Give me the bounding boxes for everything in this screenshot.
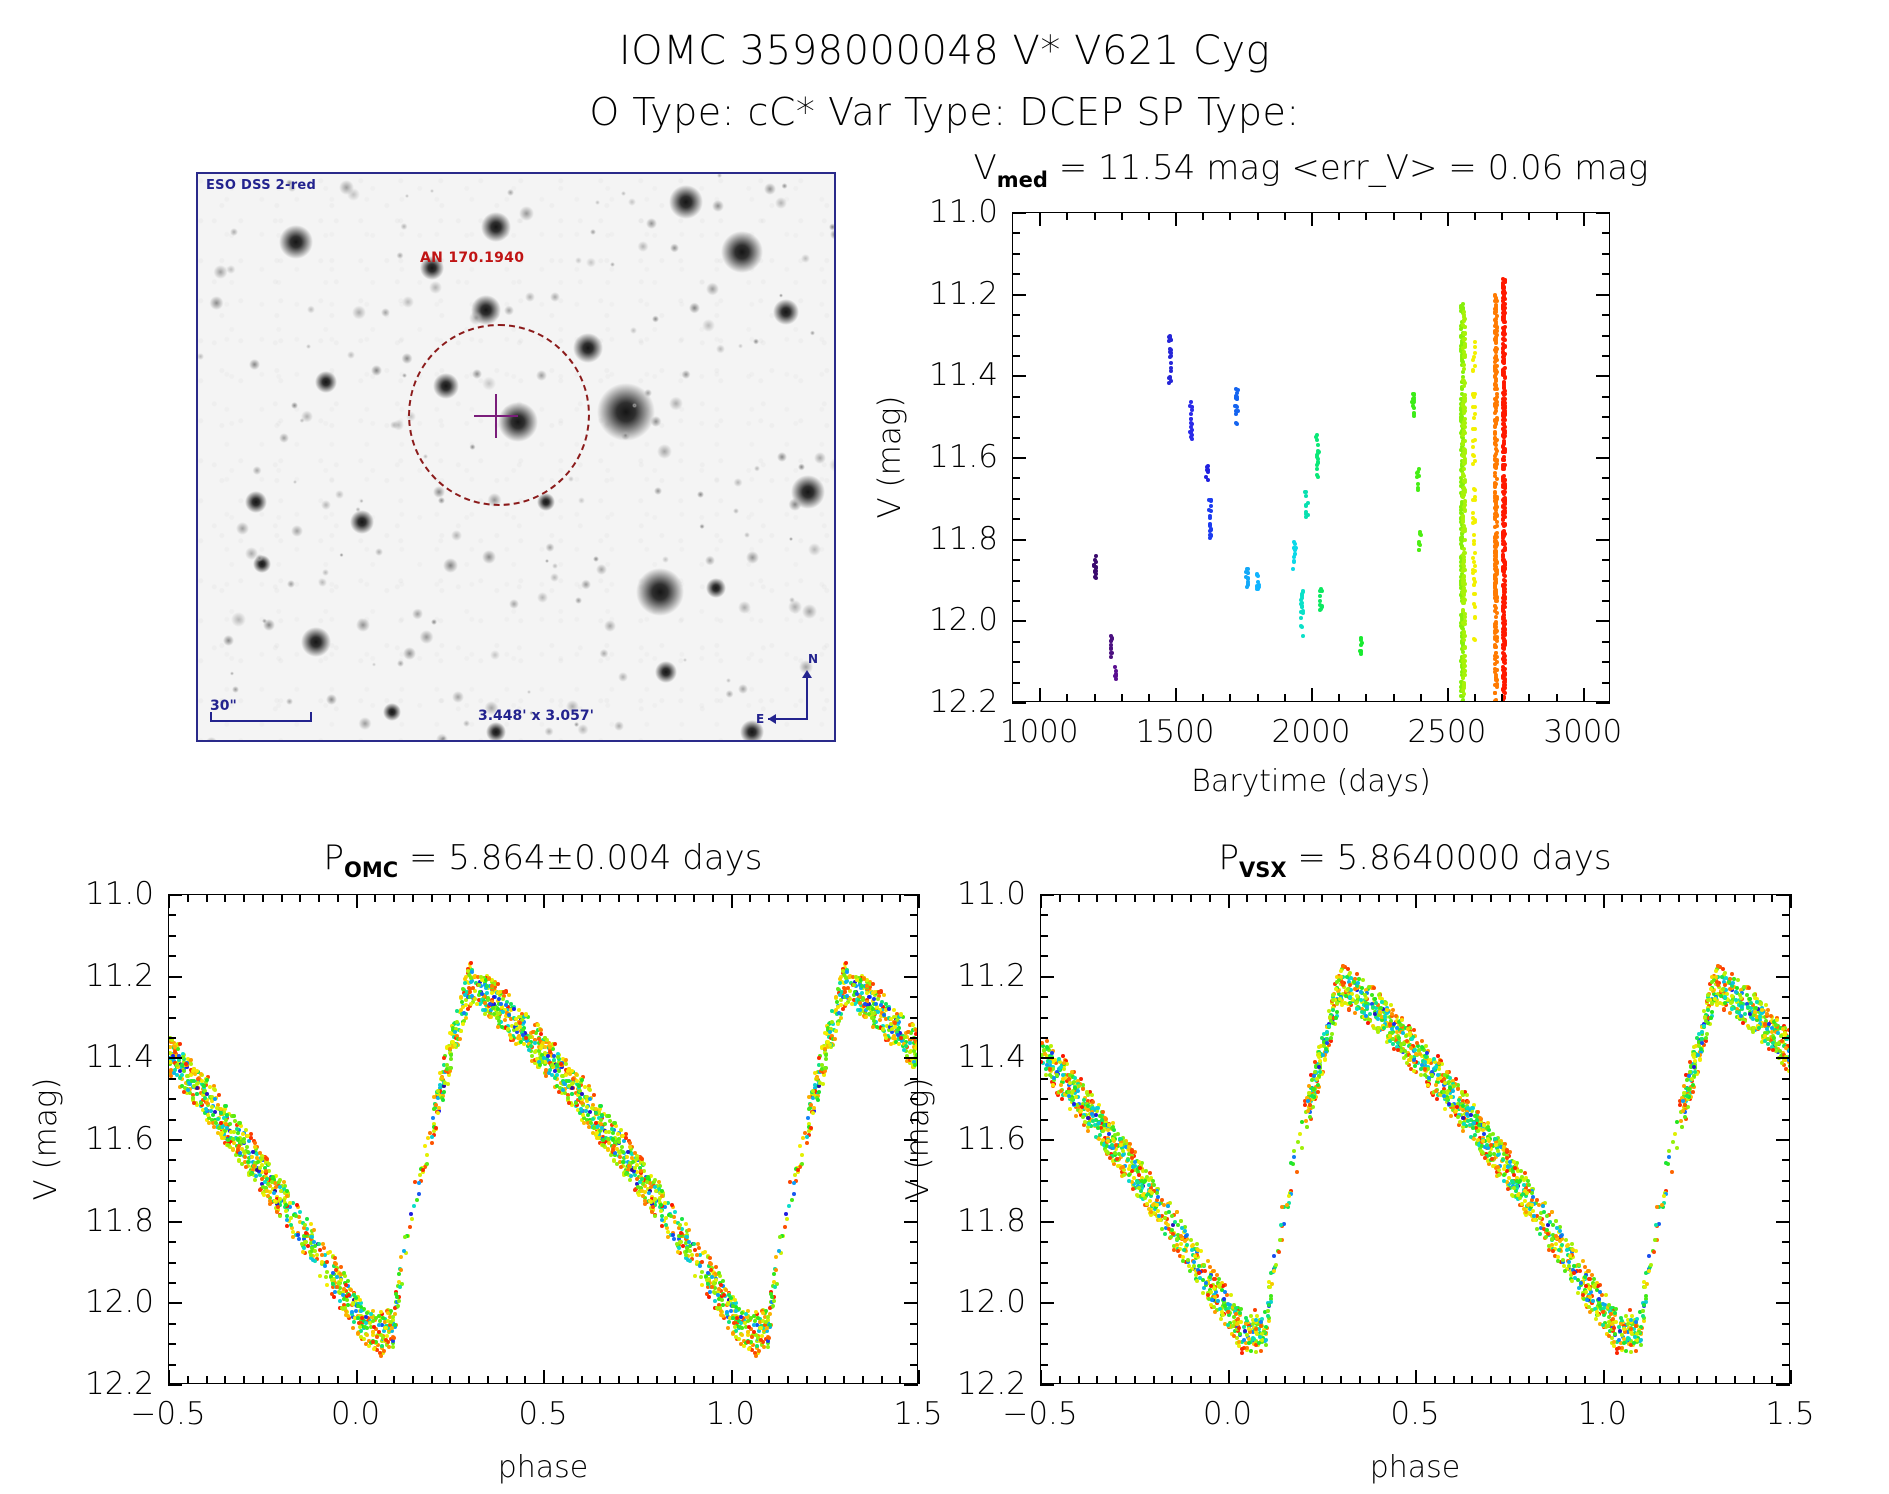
data-point <box>1463 589 1467 593</box>
axis-minor-tick <box>299 894 301 902</box>
data-point <box>805 1141 809 1145</box>
data-point <box>217 1093 221 1097</box>
axis-minor-tick <box>1602 253 1610 255</box>
data-point <box>325 1260 329 1264</box>
y-tick-label: 11.4 <box>85 1039 154 1075</box>
data-point <box>1315 438 1319 442</box>
data-point <box>1502 338 1506 342</box>
axis-tick <box>1012 375 1026 377</box>
data-point <box>399 1255 403 1259</box>
x-tick-label: 1000 <box>1000 714 1079 750</box>
data-point <box>1303 490 1307 494</box>
data-point <box>345 1298 349 1302</box>
data-point <box>264 1156 268 1160</box>
data-point <box>586 1113 590 1117</box>
data-point <box>864 1015 868 1019</box>
axis-minor-tick <box>524 1376 526 1384</box>
data-point <box>564 1062 568 1066</box>
data-point <box>524 1013 528 1017</box>
axis-minor-tick <box>1012 253 1020 255</box>
data-point <box>1462 638 1466 642</box>
axis-minor-tick <box>1420 212 1422 220</box>
axis-tick <box>356 1370 358 1384</box>
data-point <box>904 1044 908 1048</box>
data-point <box>1315 467 1319 471</box>
data-point <box>324 1275 328 1279</box>
axis-minor-tick <box>168 955 176 957</box>
data-point <box>546 1054 550 1058</box>
data-point <box>908 1050 912 1054</box>
axis-minor-tick <box>656 894 658 902</box>
data-point <box>757 1349 761 1353</box>
data-point <box>301 1250 305 1254</box>
axis-minor-tick <box>412 894 414 902</box>
x-tick-label: 2000 <box>1272 714 1351 750</box>
axis-minor-tick <box>910 1241 918 1243</box>
data-point <box>882 1013 886 1017</box>
data-point <box>208 1085 212 1089</box>
data-point <box>399 1268 403 1272</box>
axis-minor-tick <box>168 1364 176 1366</box>
data-point <box>1495 358 1499 362</box>
axis-minor-tick <box>506 894 508 902</box>
p-vsx-value-text: = 5.8640000 days <box>1287 838 1612 878</box>
axis-tick <box>1447 688 1449 702</box>
data-point <box>298 1210 302 1214</box>
axis-minor-tick <box>1257 694 1259 702</box>
data-point <box>417 1181 421 1185</box>
data-point <box>1594 1317 1598 1321</box>
data-point <box>712 1290 716 1294</box>
data-point <box>461 1022 465 1026</box>
axis-tick <box>1596 457 1610 459</box>
axis-minor-tick <box>1012 518 1020 520</box>
data-point <box>1473 615 1477 619</box>
data-point <box>365 1333 369 1337</box>
x-tick-label: 0.5 <box>518 1396 567 1432</box>
data-point <box>274 1185 278 1189</box>
data-point <box>496 991 500 995</box>
data-point <box>1494 308 1498 312</box>
data-point <box>762 1345 766 1349</box>
data-point <box>828 1043 832 1047</box>
data-point <box>798 1144 802 1148</box>
data-point <box>700 1270 704 1274</box>
data-point <box>1554 1242 1558 1246</box>
data-point <box>189 1058 193 1062</box>
data-point <box>228 1122 232 1126</box>
data-point <box>501 1010 505 1014</box>
axis-minor-tick <box>1121 212 1123 220</box>
axis-minor-tick <box>1602 498 1610 500</box>
axis-minor-tick <box>806 894 808 902</box>
data-point <box>1416 482 1420 486</box>
data-point <box>684 1253 688 1257</box>
axis-minor-tick <box>224 1376 226 1384</box>
data-point <box>538 1063 542 1067</box>
data-point <box>441 1098 445 1102</box>
data-point <box>241 1132 245 1136</box>
axis-minor-tick <box>1602 273 1610 275</box>
axis-minor-tick <box>168 1159 176 1161</box>
data-point <box>1471 462 1475 466</box>
data-point <box>338 1299 342 1303</box>
data-point <box>861 998 865 1002</box>
data-point <box>504 1003 508 1007</box>
data-point <box>1205 465 1209 469</box>
data-point <box>1502 613 1506 617</box>
axis-minor-tick <box>337 1376 339 1384</box>
y-tick-label: 11.0 <box>929 194 998 230</box>
axis-tick <box>168 976 182 978</box>
axis-minor-tick <box>824 1376 826 1384</box>
axis-minor-tick <box>749 1376 751 1384</box>
axis-tick <box>904 1384 918 1386</box>
data-point <box>321 1242 325 1246</box>
data-point <box>531 1030 535 1034</box>
axis-minor-tick <box>168 1241 176 1243</box>
data-point <box>1493 512 1497 516</box>
scalebar <box>210 712 312 722</box>
axis-minor-tick <box>393 894 395 902</box>
page-subtitle: O Type: cC* Var Type: DCEP SP Type: <box>0 90 1889 134</box>
data-point <box>485 984 489 988</box>
axis-minor-tick <box>1602 518 1610 520</box>
axis-minor-tick <box>881 1376 883 1384</box>
data-point <box>783 1225 787 1229</box>
data-point <box>1463 646 1467 650</box>
data-point <box>592 1126 596 1130</box>
axis-tick <box>1583 688 1585 702</box>
data-point <box>468 990 472 994</box>
data-point <box>1109 639 1113 643</box>
data-point <box>354 1309 358 1313</box>
data-point <box>792 1192 796 1196</box>
data-point <box>334 1262 338 1266</box>
data-point <box>285 1214 289 1218</box>
axis-minor-tick <box>337 894 339 902</box>
axis-tick <box>168 1221 182 1223</box>
data-point <box>430 1141 434 1145</box>
data-point <box>253 1178 257 1182</box>
data-point <box>1495 685 1499 689</box>
data-point <box>1494 447 1498 451</box>
data-point <box>459 1029 463 1033</box>
data-point <box>285 1189 289 1193</box>
data-point <box>349 1288 353 1292</box>
data-point <box>305 1217 309 1221</box>
axis-minor-tick <box>637 894 639 902</box>
data-point <box>659 1209 663 1213</box>
axis-tick <box>1039 212 1041 226</box>
axis-minor-tick <box>910 1282 918 1284</box>
data-point <box>836 1022 840 1026</box>
data-point <box>566 1096 570 1100</box>
data-point <box>690 1253 694 1257</box>
data-point <box>1501 558 1505 562</box>
data-point <box>470 970 474 974</box>
data-point <box>746 1330 750 1334</box>
data-point <box>587 1125 591 1129</box>
data-point <box>1501 531 1505 535</box>
data-point <box>664 1216 668 1220</box>
data-point <box>1493 430 1497 434</box>
data-point <box>1462 529 1466 533</box>
data-point <box>1291 567 1295 571</box>
data-point <box>309 1222 313 1226</box>
data-point <box>648 1199 652 1203</box>
p-vsx-symbol: P <box>1218 838 1239 878</box>
axis-minor-tick <box>262 894 264 902</box>
data-point <box>382 1349 386 1353</box>
data-point <box>325 1270 329 1274</box>
data-point <box>639 1156 643 1160</box>
data-point <box>838 981 842 985</box>
data-point <box>231 1137 235 1141</box>
axis-minor-tick <box>1420 694 1422 702</box>
data-point <box>666 1235 670 1239</box>
axis-tick <box>731 894 733 908</box>
data-point <box>1494 651 1498 655</box>
data-point <box>1501 296 1505 300</box>
data-point <box>341 1293 345 1297</box>
axis-tick <box>543 894 545 908</box>
data-point <box>1320 604 1324 608</box>
data-point <box>430 1135 434 1139</box>
data-point <box>871 1025 875 1029</box>
axis-minor-tick <box>506 1376 508 1384</box>
axis-tick <box>1583 212 1585 226</box>
data-point <box>398 1285 402 1289</box>
data-point <box>843 990 847 994</box>
data-point <box>568 1072 572 1076</box>
data-point <box>325 1283 329 1287</box>
data-point <box>335 1285 339 1289</box>
data-point <box>236 1131 240 1135</box>
axis-tick <box>1596 620 1610 622</box>
data-point <box>310 1235 314 1239</box>
vmed-subscript: med <box>997 168 1048 192</box>
data-point <box>1502 359 1506 363</box>
data-point <box>710 1285 714 1289</box>
data-point <box>384 1326 388 1330</box>
data-point <box>1190 428 1194 432</box>
axis-minor-tick <box>693 894 695 902</box>
data-point <box>1473 580 1477 584</box>
data-point <box>1495 387 1499 391</box>
axis-minor-tick <box>910 1037 918 1039</box>
p-omc-subscript: OMC <box>344 858 398 882</box>
data-point <box>1169 361 1173 365</box>
y-tick-label: 11.6 <box>85 1121 154 1157</box>
data-point <box>618 1155 622 1159</box>
data-point <box>811 1111 815 1115</box>
phase-vsx-title: PVSX = 5.8640000 days <box>1218 838 1611 882</box>
axis-minor-tick <box>1202 212 1204 220</box>
axis-tick <box>1447 212 1449 226</box>
data-point <box>231 1148 235 1152</box>
axis-minor-tick <box>168 914 176 916</box>
data-point <box>1501 643 1505 647</box>
data-point <box>1234 387 1238 391</box>
data-point <box>685 1246 689 1250</box>
axis-minor-tick <box>1094 694 1096 702</box>
data-point <box>1246 571 1250 575</box>
data-point <box>213 1097 217 1101</box>
axis-minor-tick <box>910 1017 918 1019</box>
data-point <box>811 1089 815 1093</box>
data-point <box>836 1005 840 1009</box>
data-point <box>1167 339 1171 343</box>
data-point <box>1360 641 1364 645</box>
axis-minor-tick <box>806 1376 808 1384</box>
data-point <box>323 1264 327 1268</box>
data-point <box>834 1029 838 1033</box>
data-point <box>438 1083 442 1087</box>
data-point <box>291 1230 295 1234</box>
data-point <box>1501 490 1505 494</box>
data-point <box>653 1214 657 1218</box>
compass-north-arrow-icon <box>802 670 812 678</box>
data-point <box>497 997 501 1001</box>
data-point <box>916 1041 918 1045</box>
data-point <box>624 1136 628 1140</box>
data-point <box>1462 622 1466 626</box>
data-point <box>1208 514 1212 518</box>
axis-minor-tick <box>1528 694 1530 702</box>
data-point <box>1189 412 1193 416</box>
axis-minor-tick <box>1602 355 1610 357</box>
data-point <box>1094 554 1098 558</box>
data-point <box>708 1256 712 1260</box>
data-point <box>249 1172 253 1176</box>
data-point <box>642 1162 646 1166</box>
data-point <box>352 1320 356 1324</box>
data-point <box>1472 539 1476 543</box>
axis-minor-tick <box>1365 694 1367 702</box>
data-point <box>318 1274 322 1278</box>
axis-minor-tick <box>1121 694 1123 702</box>
data-point <box>552 1058 556 1062</box>
data-point <box>1502 652 1506 656</box>
data-point <box>489 1015 493 1019</box>
data-point <box>224 1104 228 1108</box>
axis-minor-tick <box>449 894 451 902</box>
field-size-label: 3.448' x 3.057' <box>478 708 594 724</box>
data-point <box>1472 560 1476 564</box>
data-point <box>339 1265 343 1269</box>
data-point <box>914 1032 918 1036</box>
data-point <box>582 1121 586 1125</box>
data-point <box>1461 698 1465 702</box>
data-point <box>453 1043 457 1047</box>
axis-minor-tick <box>910 1343 918 1345</box>
data-point <box>813 1071 817 1075</box>
data-point <box>1113 665 1117 669</box>
data-point <box>1471 358 1475 362</box>
data-point <box>1412 400 1416 404</box>
data-point <box>1449 1114 1453 1118</box>
data-point <box>752 1323 756 1327</box>
axis-tick <box>1012 294 1026 296</box>
axis-tick <box>1596 375 1610 377</box>
data-point <box>771 1304 775 1308</box>
data-point <box>1304 494 1308 498</box>
data-point <box>696 1242 700 1246</box>
data-point <box>679 1231 683 1235</box>
data-point <box>1462 575 1466 579</box>
data-point <box>273 1199 277 1203</box>
data-point <box>236 1148 240 1152</box>
data-point <box>1094 576 1098 580</box>
data-point <box>1471 445 1475 449</box>
data-point <box>1471 453 1475 457</box>
axis-tick <box>168 1139 182 1141</box>
data-point <box>463 977 467 981</box>
p-omc-value-text: = 5.864±0.004 days <box>398 838 762 878</box>
axis-minor-tick <box>168 1098 176 1100</box>
data-point <box>369 1312 373 1316</box>
data-point <box>1169 369 1173 373</box>
data-point <box>703 1250 707 1254</box>
lightcurve-axes <box>1012 212 1610 702</box>
axis-minor-tick <box>1012 335 1020 337</box>
data-point <box>379 1354 383 1358</box>
axis-minor-tick <box>1066 694 1068 702</box>
data-point <box>311 1258 315 1262</box>
axis-minor-tick <box>768 1376 770 1384</box>
data-point <box>522 1042 526 1046</box>
data-point <box>265 1189 269 1193</box>
axis-tick <box>168 1384 182 1386</box>
axis-minor-tick <box>1012 682 1020 684</box>
data-point <box>1501 284 1505 288</box>
data-point <box>611 1131 615 1135</box>
axis-tick <box>1039 688 1041 702</box>
data-point <box>740 1333 744 1337</box>
data-point <box>1319 587 1323 591</box>
data-point <box>1502 289 1506 293</box>
data-point <box>567 1079 571 1083</box>
data-point <box>784 1212 788 1216</box>
axis-tick <box>1596 539 1610 541</box>
axis-minor-tick <box>1012 498 1020 500</box>
data-point <box>539 1032 543 1036</box>
data-point <box>1494 701 1498 702</box>
data-point <box>1472 416 1476 420</box>
data-point <box>426 1136 430 1140</box>
y-tick-label: 12.2 <box>929 684 998 720</box>
data-point <box>1502 668 1506 672</box>
data-point <box>1495 520 1499 524</box>
data-point <box>1493 536 1497 540</box>
data-point <box>559 1062 563 1066</box>
data-point <box>685 1235 689 1239</box>
axis-minor-tick <box>318 894 320 902</box>
axis-minor-tick <box>281 1376 283 1384</box>
data-point <box>817 1090 821 1094</box>
data-point <box>897 1042 901 1046</box>
data-point <box>619 1165 623 1169</box>
data-point <box>408 1225 412 1229</box>
data-point <box>300 1242 304 1246</box>
axis-tick <box>731 1370 733 1384</box>
x-tick-label: 2500 <box>1407 714 1486 750</box>
data-point <box>588 1097 592 1101</box>
axis-minor-tick <box>468 1376 470 1384</box>
data-point <box>186 1088 190 1092</box>
axis-tick <box>168 894 170 908</box>
